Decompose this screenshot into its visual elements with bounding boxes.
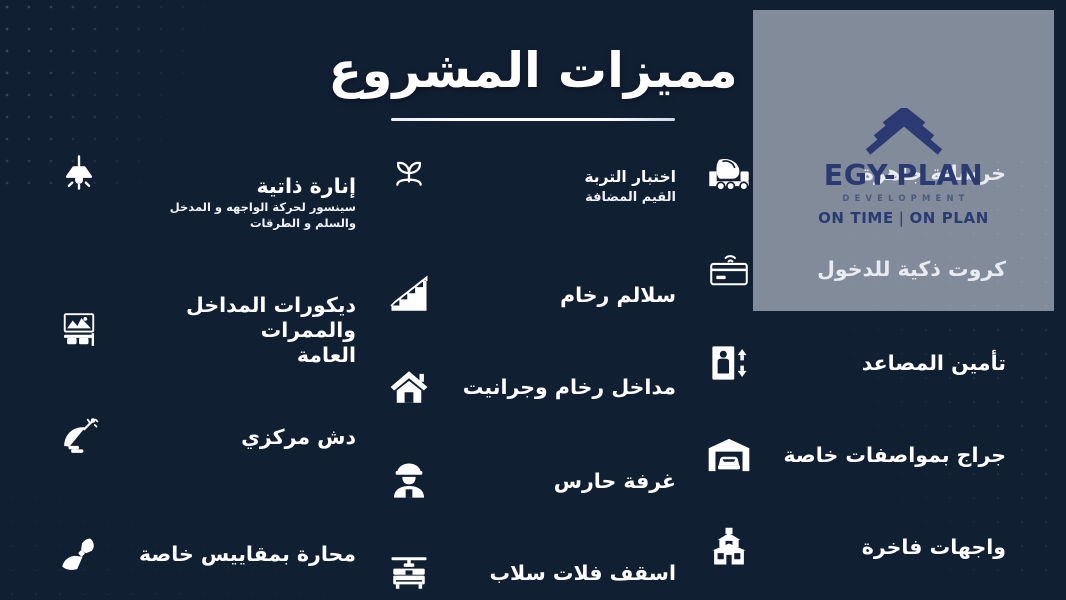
feature-item[interactable]: واجهات فاخرة bbox=[706, 524, 1006, 570]
feature-item[interactable]: غرفة حارس bbox=[386, 458, 676, 504]
feature-item[interactable]: مداخل رخام وجرانيت bbox=[386, 364, 676, 410]
security-guard-icon bbox=[386, 458, 432, 504]
title-underline bbox=[391, 118, 675, 121]
satellite-dish-icon bbox=[56, 415, 102, 461]
feature-label: مداخل رخام وجرانيت bbox=[446, 375, 676, 400]
garage-car-icon bbox=[706, 432, 752, 478]
feature-item[interactable]: اسقف فلات سلاب bbox=[386, 550, 676, 596]
concrete-mixer-truck-icon bbox=[706, 150, 752, 196]
flat-slab-ceiling-icon bbox=[386, 550, 432, 596]
slide-canvas: مميزات المشروع إنارة ذاتية سينسور لحركة … bbox=[0, 0, 1066, 600]
feature-item[interactable]: كروت ذكية للدخول bbox=[706, 246, 1006, 292]
feature-column-left: إنارة ذاتية سينسور لحركة الواجهه و المدخ… bbox=[56, 150, 356, 578]
feature-item[interactable]: اختبار التربة القيم المضافة bbox=[386, 150, 676, 224]
feature-item[interactable]: دش مركزي bbox=[56, 415, 356, 461]
feature-sublabel: سينسور لحركة الواجهه و المدخل والسلم و ا… bbox=[116, 200, 356, 231]
feature-label-wrap: إنارة ذاتية سينسور لحركة الواجهه و المدخ… bbox=[116, 150, 356, 256]
feature-sublabel: القيم المضافة bbox=[446, 189, 676, 207]
feature-item[interactable]: تأمين المصاعد bbox=[706, 340, 1006, 386]
interior-decor-icon bbox=[56, 307, 102, 353]
feature-label: اختبار التربة bbox=[584, 168, 676, 186]
feature-label: إنارة ذاتية bbox=[256, 174, 356, 198]
staircase-icon bbox=[386, 272, 432, 318]
feature-item[interactable]: محارة بمقاييس خاصة bbox=[56, 532, 356, 578]
feature-label: غرفة حارس bbox=[446, 469, 676, 494]
feature-item[interactable]: سلالم رخام bbox=[386, 272, 676, 318]
feature-label-wrap: اختبار التربة القيم المضافة bbox=[446, 150, 676, 224]
feature-label: اسقف فلات سلاب bbox=[446, 561, 676, 586]
feature-column-middle: اختبار التربة القيم المضافة سلالم رخام bbox=[386, 150, 676, 600]
seedling-icon bbox=[386, 150, 432, 196]
feature-item[interactable]: خرسانة جاهزة bbox=[706, 150, 1006, 196]
title-block: مميزات المشروع bbox=[0, 46, 1066, 121]
building-facade-icon bbox=[706, 524, 752, 570]
feature-item[interactable]: إنارة ذاتية سينسور لحركة الواجهه و المدخ… bbox=[56, 150, 356, 256]
feature-item[interactable]: جراج بمواصفات خاصة bbox=[706, 432, 1006, 478]
house-entrance-icon bbox=[386, 364, 432, 410]
page-title: مميزات المشروع bbox=[0, 46, 1066, 95]
feature-label: ديكورات المداخل والممرات العامة bbox=[116, 293, 356, 368]
trowel-icon bbox=[56, 532, 102, 578]
feature-label: جراج بمواصفات خاصة bbox=[766, 443, 1006, 468]
feature-label: خرسانة جاهزة bbox=[766, 161, 1006, 186]
feature-item[interactable]: ديكورات المداخل والممرات العامة bbox=[56, 293, 356, 368]
feature-column-right: خرسانة جاهزة كروت ذكية للدخول bbox=[706, 150, 1006, 600]
feature-label: سلالم رخام bbox=[446, 283, 676, 308]
feature-label: دش مركزي bbox=[116, 425, 356, 450]
feature-label: كروت ذكية للدخول bbox=[766, 257, 1006, 282]
feature-label: تأمين المصاعد bbox=[766, 351, 1006, 376]
feature-label: واجهات فاخرة bbox=[766, 535, 1006, 560]
smart-card-icon bbox=[706, 246, 752, 292]
ceiling-lamp-icon bbox=[56, 150, 102, 196]
elevator-icon bbox=[706, 340, 752, 386]
feature-label: محارة بمقاييس خاصة bbox=[116, 542, 356, 567]
